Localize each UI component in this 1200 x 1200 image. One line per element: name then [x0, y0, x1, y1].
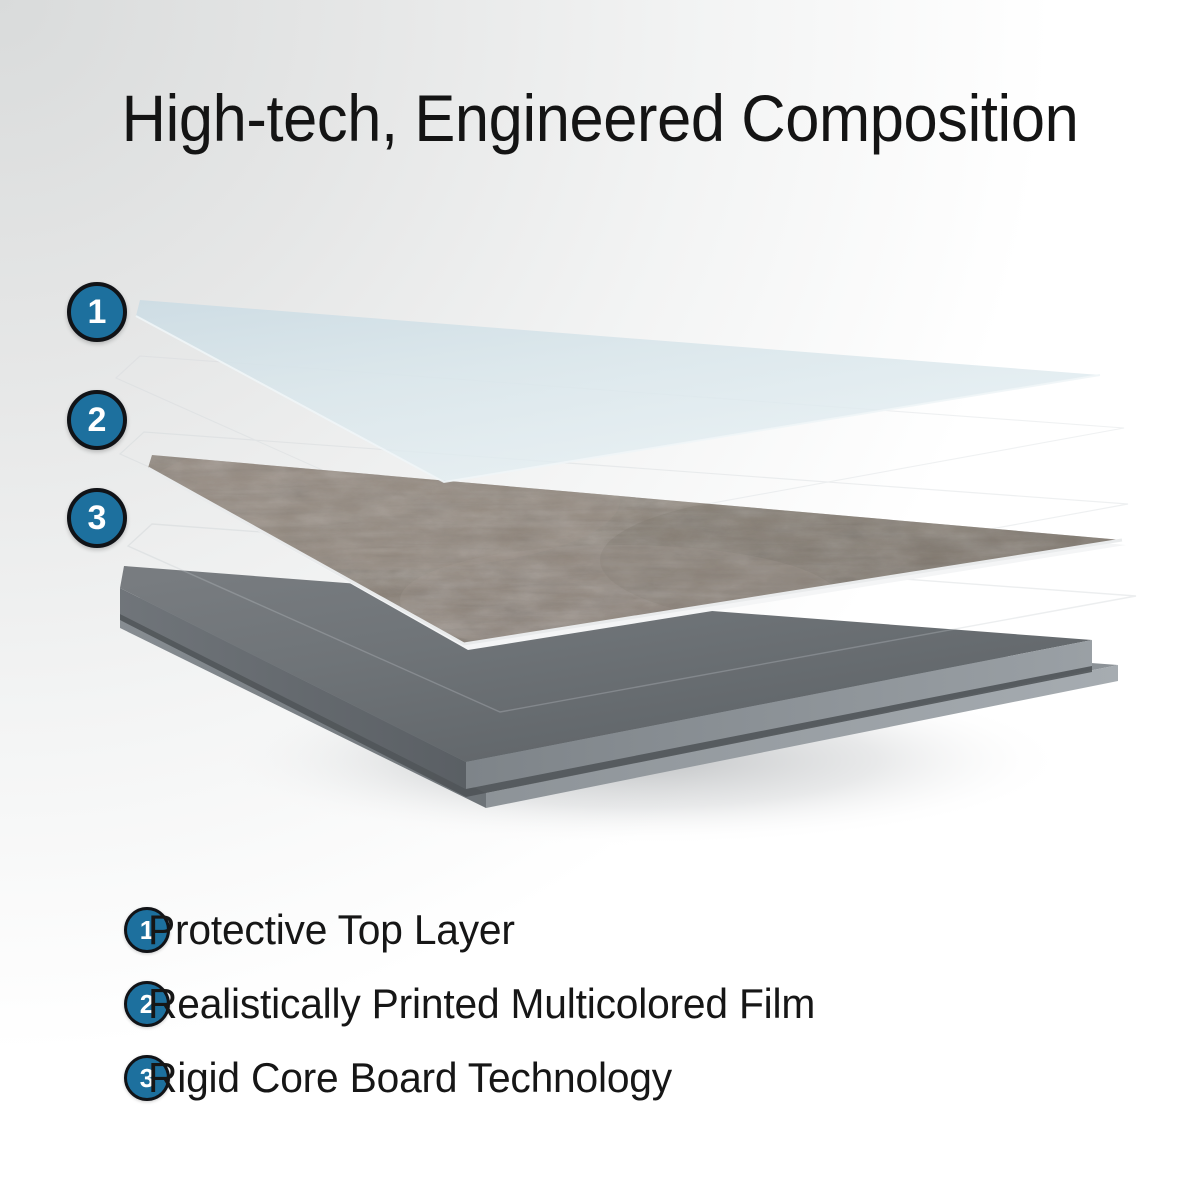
legend-item-1[interactable]: 1 Protective Top Layer — [124, 893, 1104, 967]
diagram-marker-3-number: 3 — [88, 501, 107, 535]
diagram-marker-2-number: 2 — [88, 403, 107, 437]
legend-item-2[interactable]: 2 Realistically Printed Multicolored Fil… — [124, 967, 1104, 1041]
composition-infographic: High-tech, Engineered Composition — [0, 0, 1200, 1200]
diagram-marker-3[interactable]: 3 — [67, 488, 127, 548]
protective-top-layer — [136, 300, 1100, 482]
top-layer-face — [136, 300, 1100, 482]
diagram-marker-2[interactable]: 2 — [67, 390, 127, 450]
diagram-marker-1[interactable]: 1 — [67, 282, 127, 342]
layer-legend: 1 Protective Top Layer 2 Realistically P… — [124, 893, 1104, 1115]
exploded-layer-diagram — [0, 0, 1200, 880]
legend-item-2-label: Realistically Printed Multicolored Film — [148, 983, 815, 1025]
legend-item-1-label: Protective Top Layer — [148, 909, 515, 951]
legend-item-3-label: Rigid Core Board Technology — [148, 1057, 672, 1099]
diagram-marker-1-number: 1 — [88, 295, 107, 329]
legend-item-3[interactable]: 3 Rigid Core Board Technology — [124, 1041, 1104, 1115]
